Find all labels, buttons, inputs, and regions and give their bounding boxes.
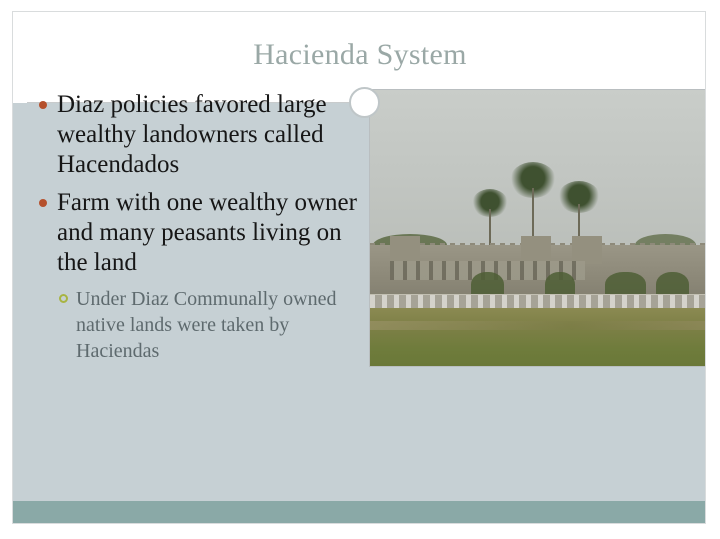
bullet-item-1: Diaz policies favored large wealthy land…: [31, 90, 371, 180]
photo-grass-field: [370, 308, 706, 366]
bullet-item-3-sub: Under Diaz Communally owned native lands…: [31, 286, 371, 364]
bullet-ring-icon: [59, 294, 68, 303]
decorative-ring-icon: [349, 87, 380, 118]
slide-title: Hacienda System: [13, 38, 706, 72]
hacienda-photograph: [369, 89, 706, 367]
slide-canvas: Hacienda System Diaz policies favored la…: [12, 11, 706, 524]
bullet-item-2-label: Farm with one wealthy owner and many pea…: [57, 189, 357, 276]
bullet-item-2: Farm with one wealthy owner and many pea…: [31, 188, 371, 278]
slide-body-text: Diaz policies favored large wealthy land…: [31, 90, 371, 364]
photo-building-tower-center: [521, 236, 551, 264]
slide-bottom-accent-bar: [13, 501, 706, 523]
photo-building-tower-right: [572, 236, 602, 264]
photo-building-tower-left: [390, 236, 420, 264]
bullet-item-3-label: Under Diaz Communally owned native lands…: [76, 288, 337, 362]
bullet-dot-icon: [39, 199, 47, 207]
bullet-dot-icon: [39, 101, 47, 109]
bullet-item-1-label: Diaz policies favored large wealthy land…: [57, 91, 327, 178]
